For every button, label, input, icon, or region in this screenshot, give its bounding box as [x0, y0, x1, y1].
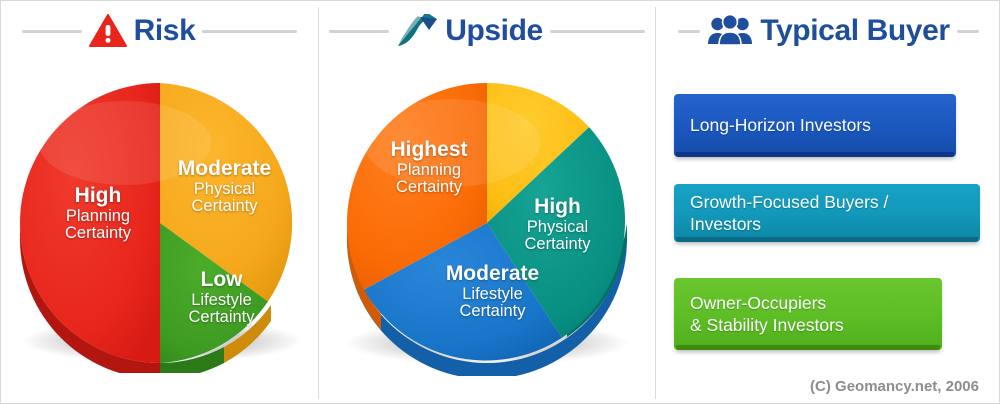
- buyer-box-line: Owner-Occupiers: [690, 292, 926, 314]
- buyer-box-owner-occupiers-stability-investors[interactable]: Owner-Occupiers & Stability Investors: [674, 278, 942, 350]
- risk-pie-svg: [15, 73, 305, 373]
- risk-pie-chart: High PlanningCertainty Moderate Physical…: [15, 73, 305, 373]
- panel-risk-header: Risk: [1, 9, 318, 53]
- buyer-box-bottom-edge: [676, 152, 954, 157]
- infographic-root: Risk: [0, 0, 1000, 404]
- people-group-icon: [707, 15, 753, 47]
- buyer-box-line: & Stability Investors: [690, 314, 926, 336]
- header-rule-right: [957, 30, 979, 33]
- warning-triangle-icon: [89, 14, 127, 48]
- buyer-box-line: Long-Horizon Investors: [690, 114, 940, 136]
- header-rule-right: [550, 30, 645, 33]
- panel-upside: Upside: [319, 1, 655, 404]
- buyer-box-bottom-edge: [676, 237, 978, 242]
- up-arrow-icon: [396, 14, 438, 48]
- buyer-box-growth-focused-buyers-investors[interactable]: Growth-Focused Buyers / Investors: [674, 184, 980, 242]
- panel-upside-header: Upside: [319, 9, 655, 53]
- panel-risk: Risk: [1, 1, 318, 404]
- panel-upside-title: Upside: [445, 14, 543, 48]
- panel-typical-buyer: Typical Buyer Long-Horizon Investors Gro…: [656, 1, 1000, 404]
- buyer-box-line: Growth-Focused Buyers / Investors: [690, 191, 964, 235]
- panel-buyer-title: Typical Buyer: [760, 14, 949, 48]
- header-rule-left: [329, 30, 389, 33]
- panel-risk-title: Risk: [134, 14, 196, 48]
- buyer-box-bottom-edge: [676, 345, 940, 350]
- header-rule-right: [202, 30, 297, 33]
- header-rule-left: [22, 30, 82, 33]
- buyer-box-long-horizon-investors[interactable]: Long-Horizon Investors: [674, 94, 956, 157]
- upside-pie-svg: [337, 71, 637, 376]
- header-rule-left: [678, 30, 700, 33]
- upside-pie-chart: Highest PlanningCertainty High PhysicalC…: [337, 71, 637, 376]
- panel-buyer-header: Typical Buyer: [656, 9, 1000, 53]
- copyright-notice: (C) Geomancy.net, 2006: [810, 378, 979, 395]
